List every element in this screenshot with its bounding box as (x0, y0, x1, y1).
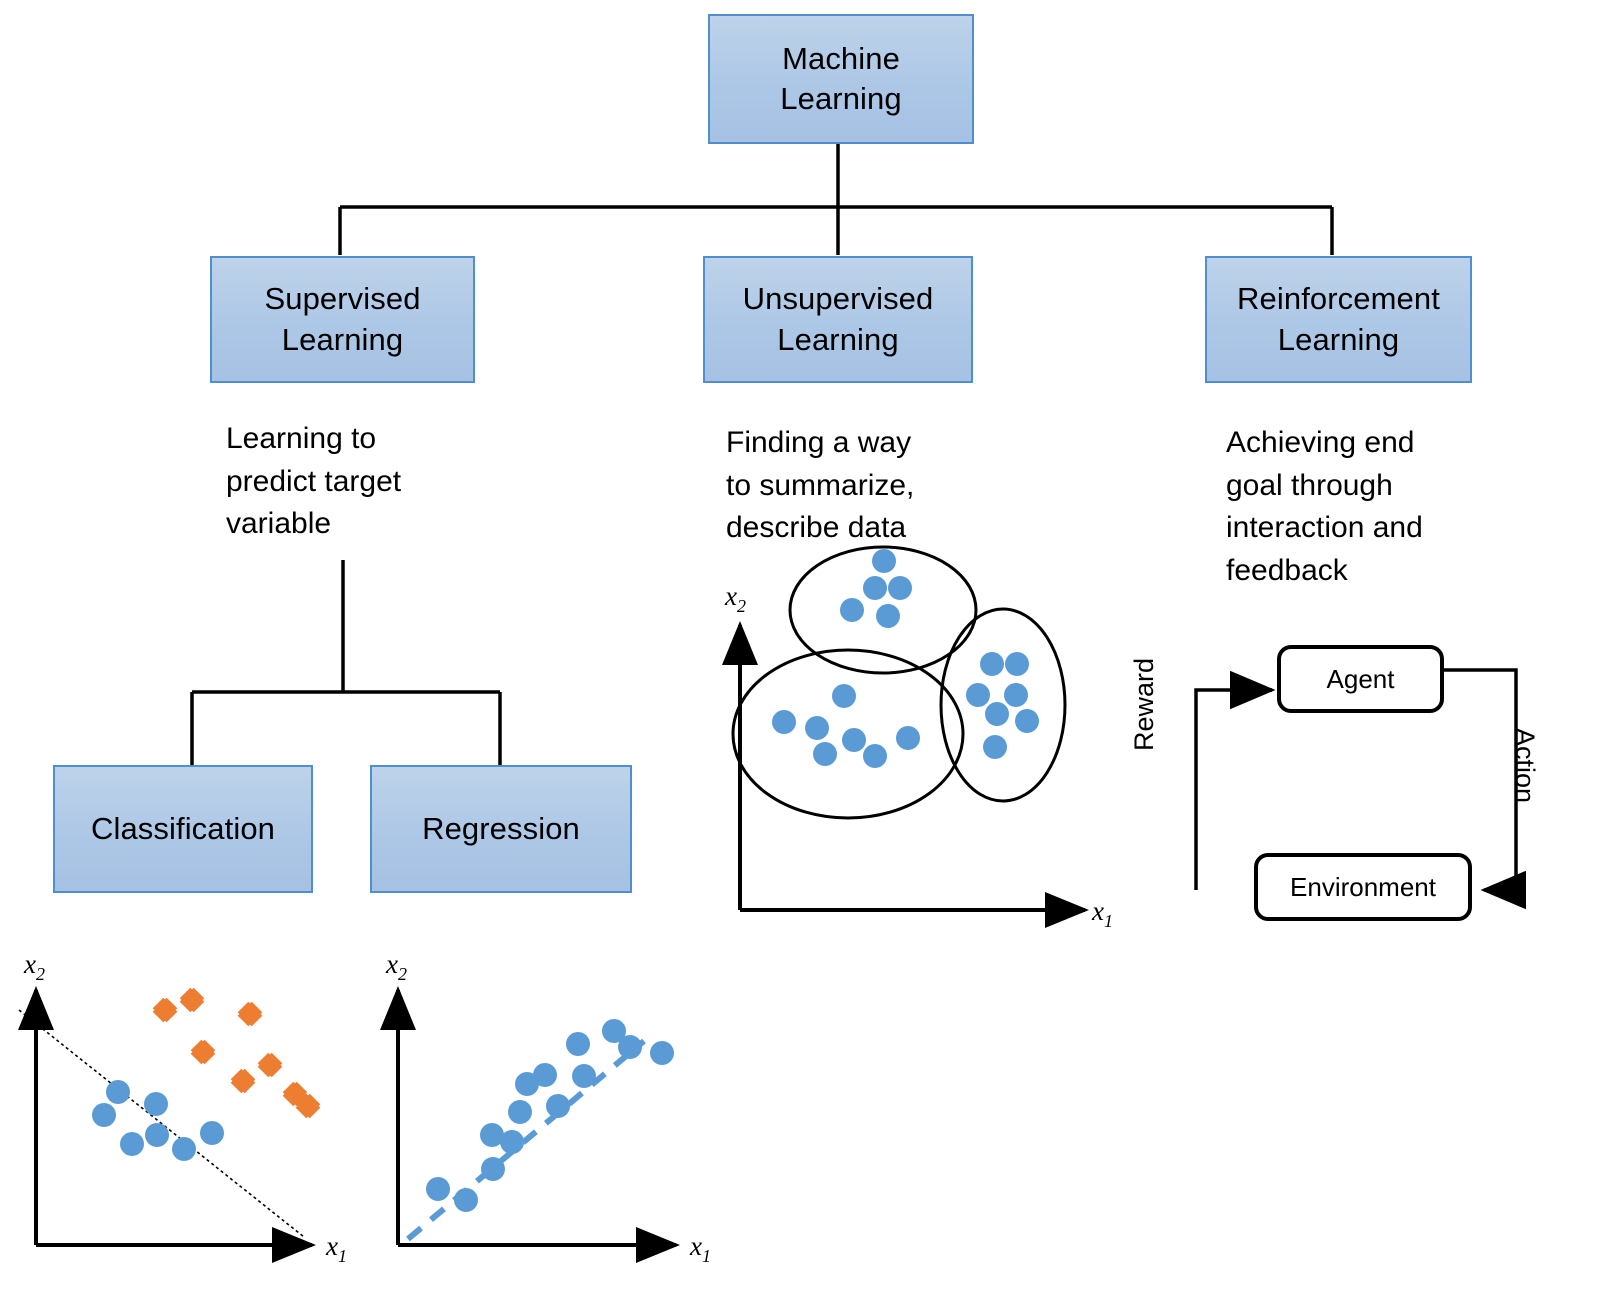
regression-points (426, 1019, 674, 1212)
regression-plot: x2 x1 (0, 0, 1622, 1308)
dashed-fit-line (408, 1041, 644, 1239)
regression-xlabel: x1 (689, 1231, 711, 1266)
regression-ylabel: x2 (385, 949, 407, 984)
diagram-canvas: Machine Learning Supervised Learning Uns… (0, 0, 1622, 1308)
